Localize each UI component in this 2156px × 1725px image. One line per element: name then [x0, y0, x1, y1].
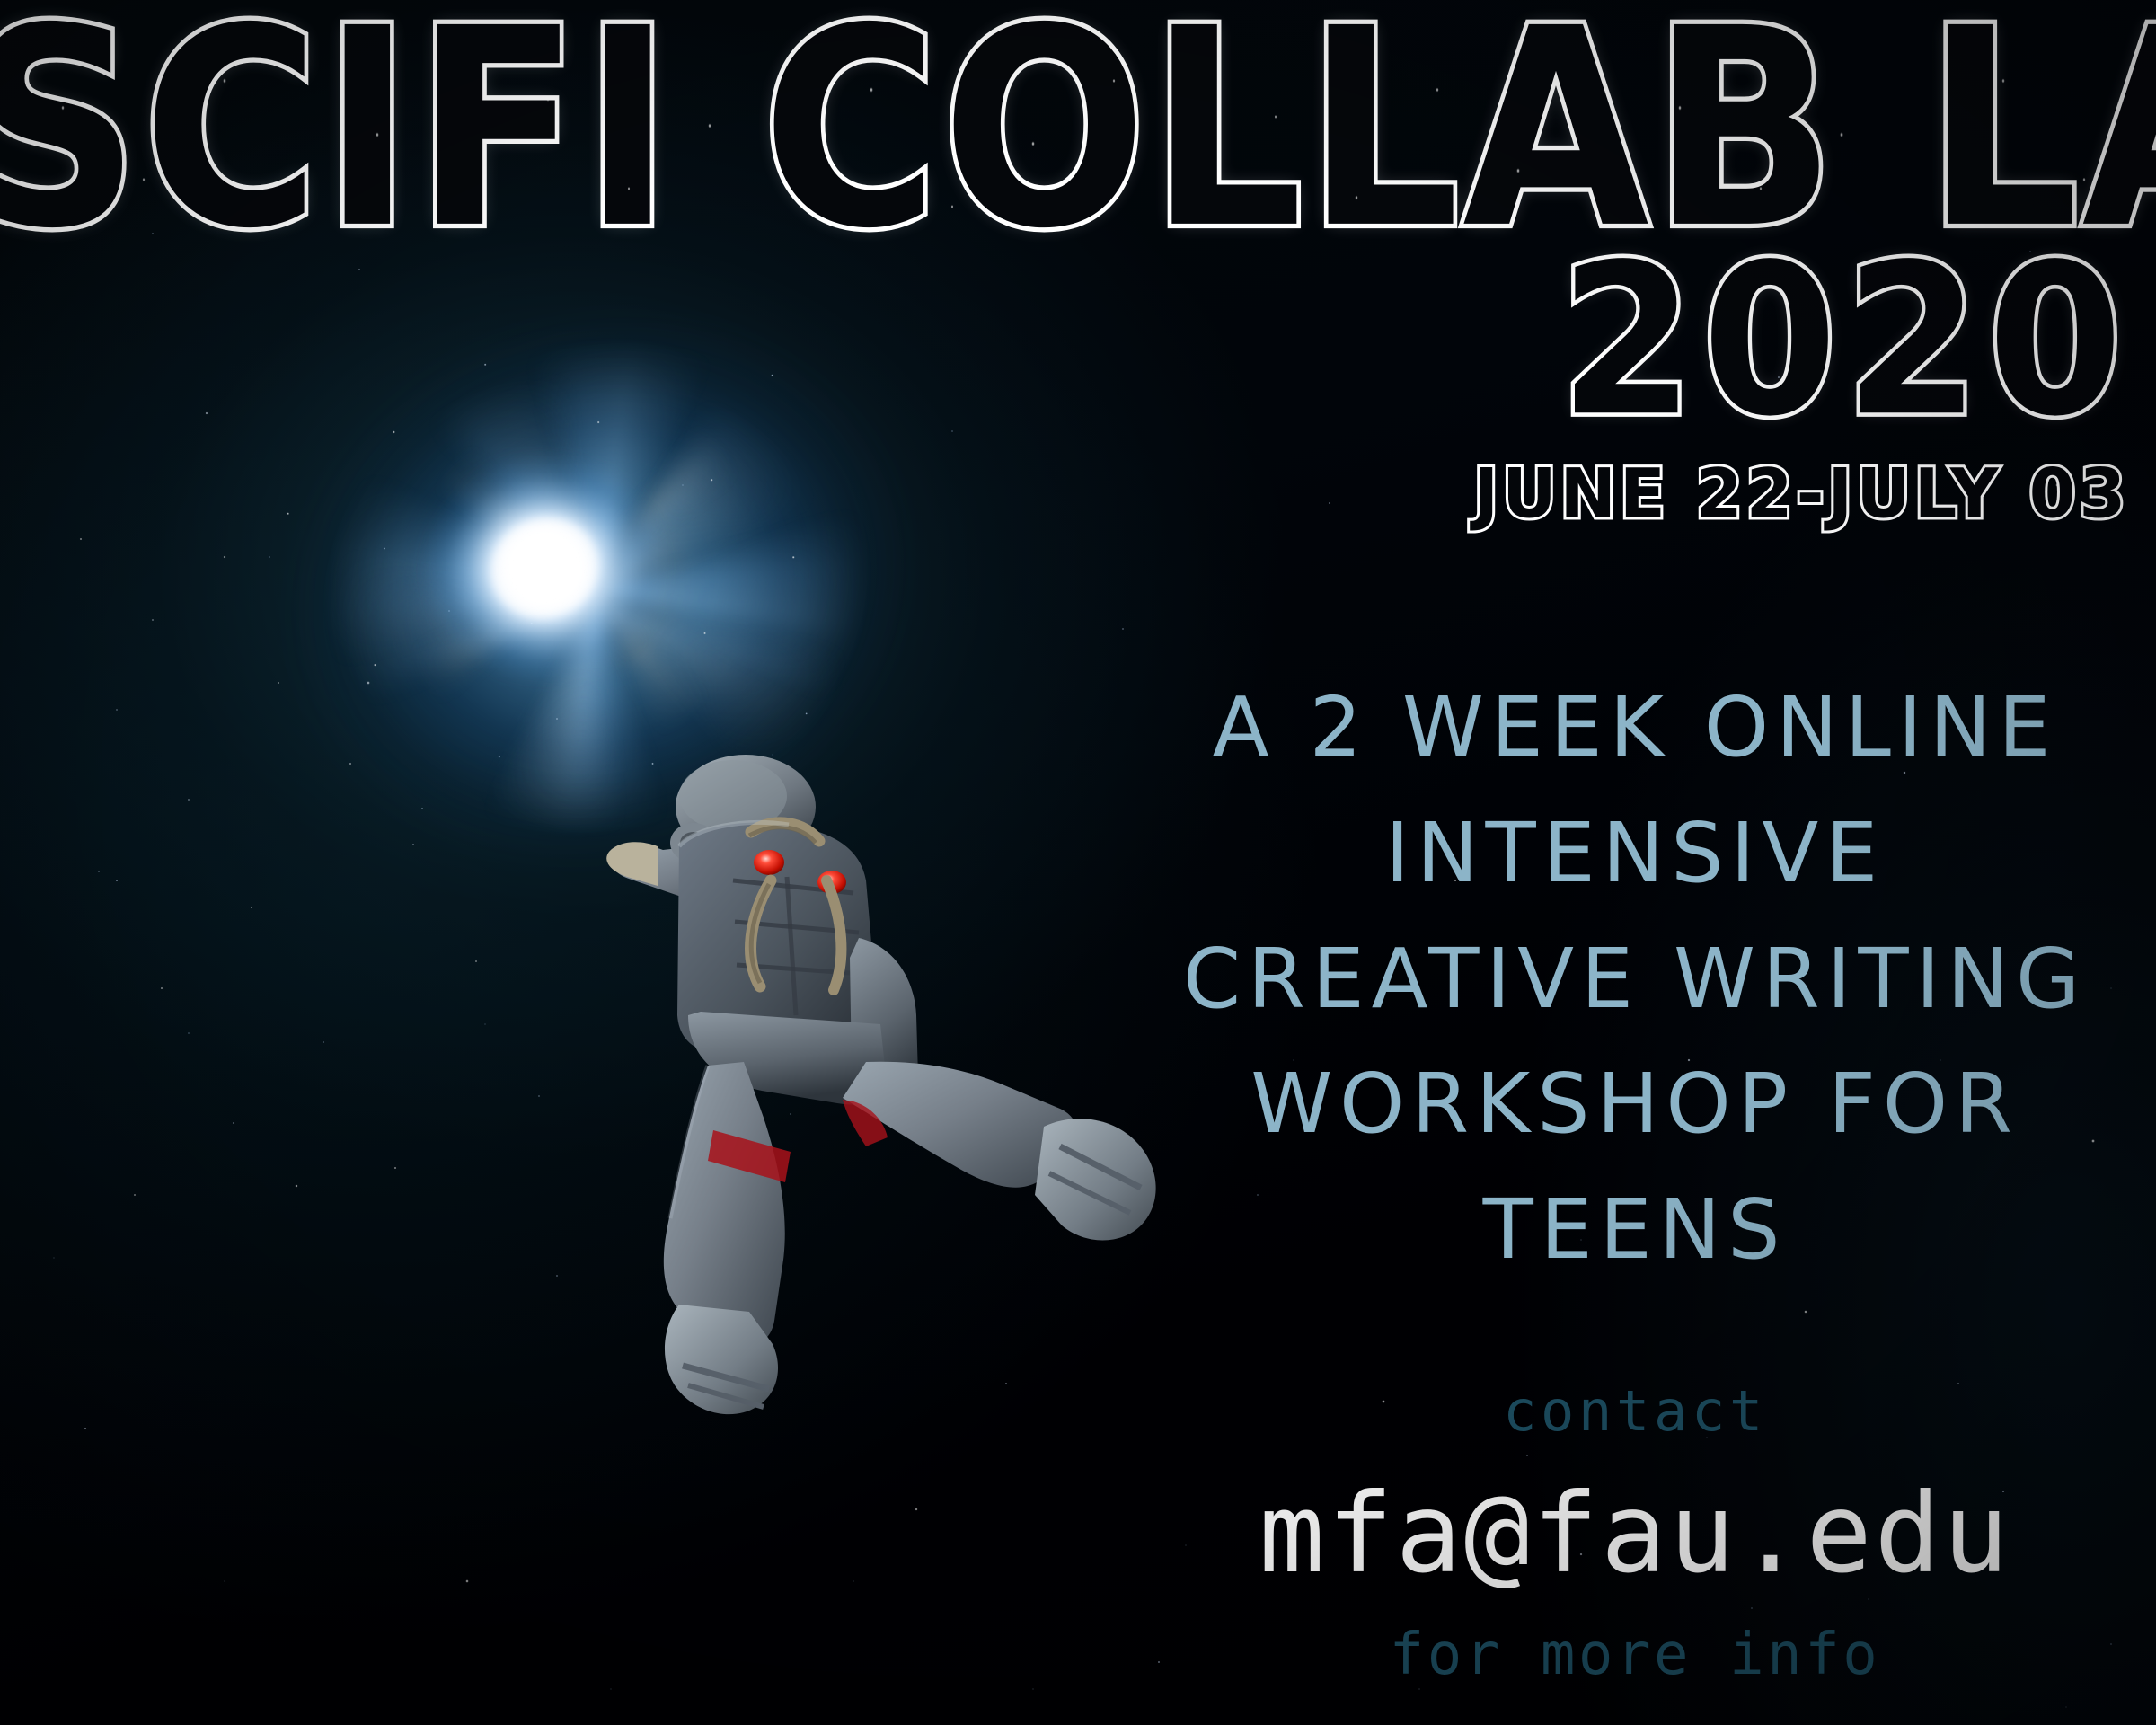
- contact-more-info-label: for more info: [1105, 1626, 2156, 1684]
- page-title: SCIFI COLLAB LAB: [0, 13, 2156, 248]
- poster-canvas: SCIFI COLLAB LAB 2020 JUNE 22-JULY 03 A …: [0, 0, 2156, 1725]
- headline-block: SCIFI COLLAB LAB: [0, 0, 2156, 212]
- event-description: A 2 WEEK ONLINE INTENSIVE CREATIVE WRITI…: [1105, 665, 2156, 1293]
- description-line-3: CREATIVE WRITING: [1105, 916, 2156, 1042]
- description-line-5: TEENS: [1105, 1167, 2156, 1293]
- dates-wrap: JUNE 22-JULY 03: [0, 460, 2129, 516]
- description-line-2: INTENSIVE: [1105, 791, 2156, 916]
- event-year: 2020: [1560, 248, 2131, 436]
- contact-label: contact: [1105, 1384, 2156, 1439]
- astronaut-status-light-1: [754, 850, 784, 875]
- description-line-4: WORKSHOP FOR: [1105, 1041, 2156, 1167]
- description-line-1: A 2 WEEK ONLINE: [1105, 665, 2156, 791]
- year-wrap: 2020: [0, 248, 2131, 410]
- event-dates: JUNE 22-JULY 03: [1473, 460, 2129, 528]
- contact-email-link[interactable]: mfa@fau.edu: [1105, 1479, 2156, 1588]
- floating-astronaut: [557, 746, 1186, 1473]
- contact-block: contact mfa@fau.edu for more info: [1105, 1384, 2156, 1684]
- astronaut-left-leg: [664, 1062, 785, 1346]
